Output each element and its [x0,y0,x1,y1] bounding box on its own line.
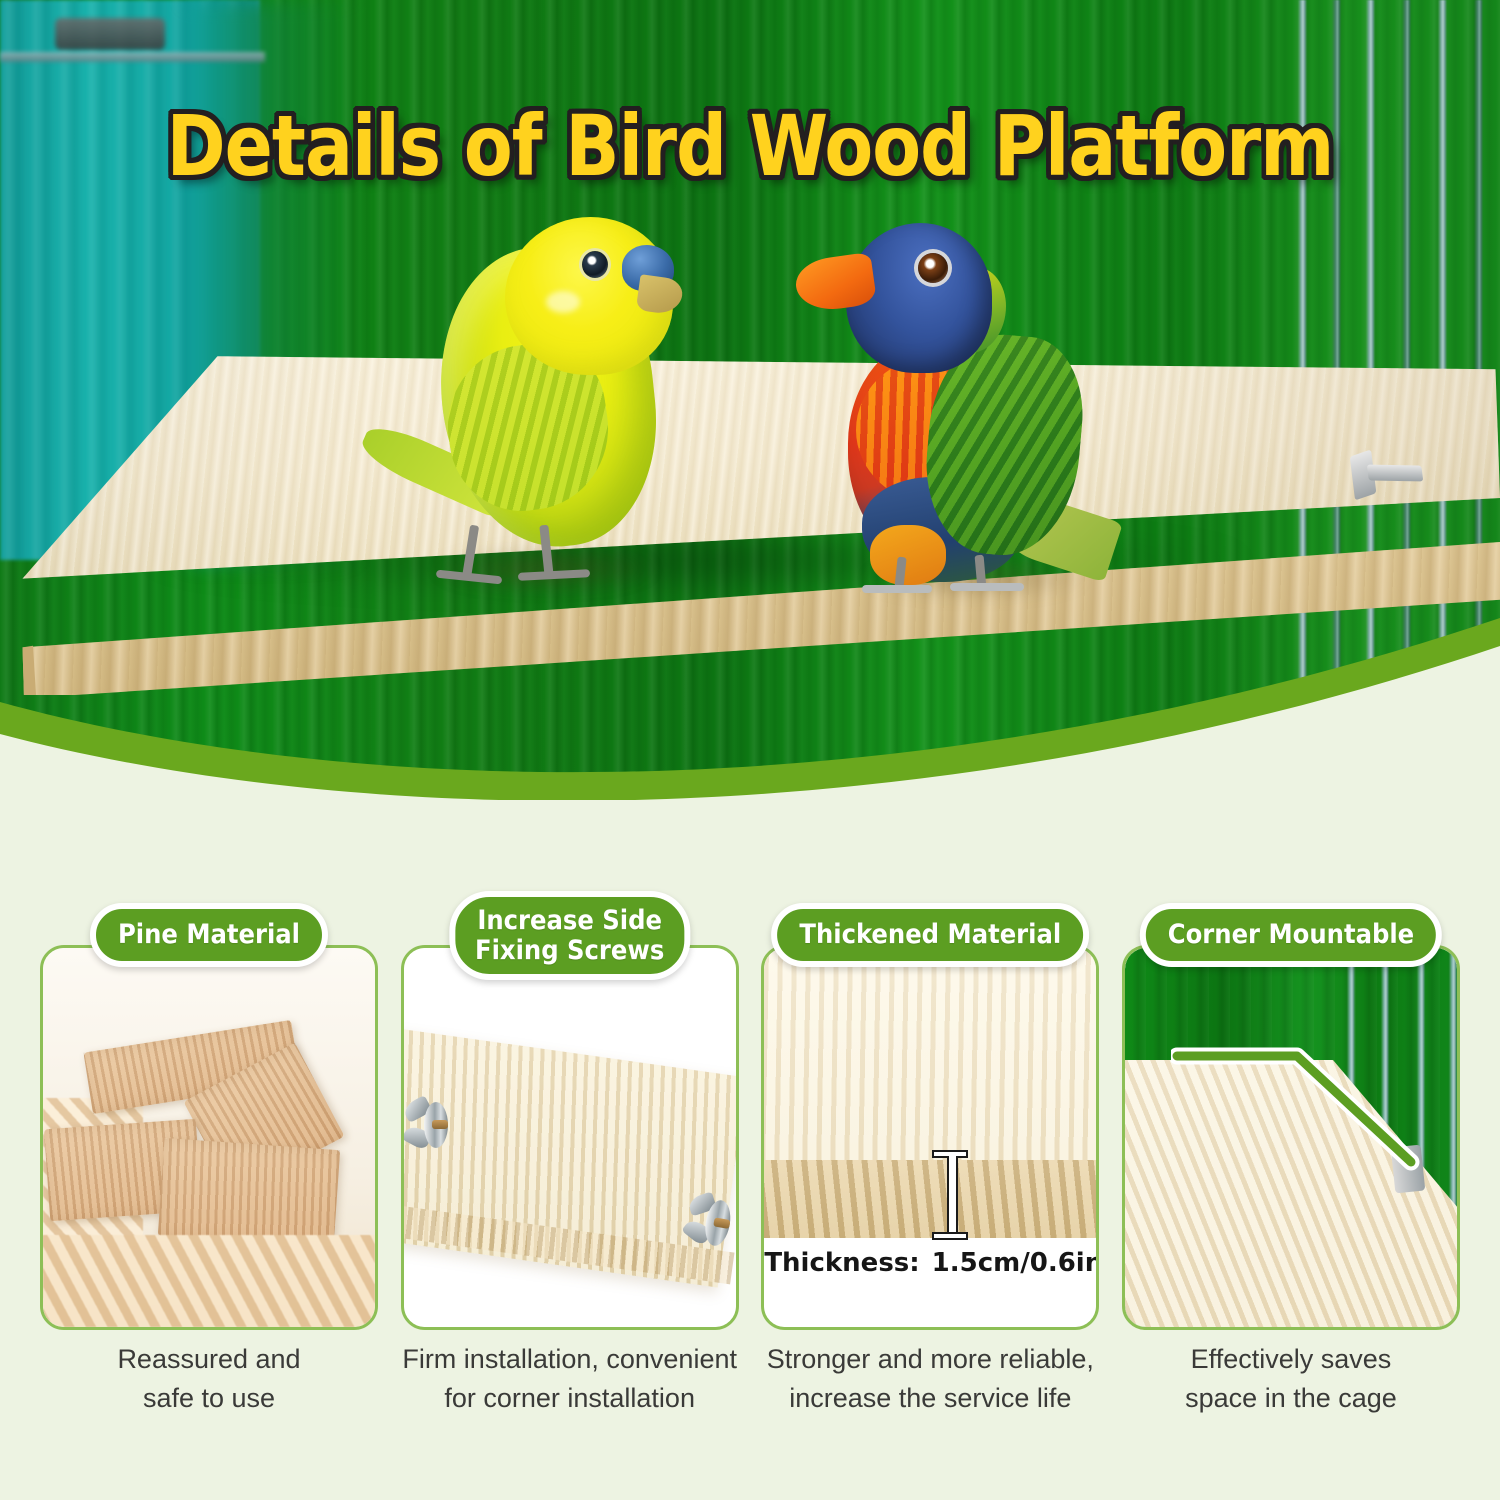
caption-line-2: safe to use [40,1379,378,1418]
corner-angle-highlight-icon [1171,1044,1423,1176]
lorikeet-foot [950,583,1024,591]
rainbow-lorikeet-bird [800,205,1100,595]
card-frame [401,945,739,1330]
card-badge-corner-mountable: Corner Mountable [1140,903,1442,967]
budgie-beak [636,274,685,316]
lorikeet-foot [862,585,932,593]
caption-line-1: Stronger and more reliable, [761,1340,1099,1379]
mounting-bracket-icon [1349,446,1424,500]
page-title: Details of Bird Wood Platform [45,104,1455,188]
feature-card-pine-material[interactable]: Pine Material [40,945,378,1330]
caption-line-1: Firm installation, convenient [401,1340,739,1379]
card-photo-thickness: Thickness:1.5cm/0.6in [764,948,1096,1327]
caption-fixing-screws: Firm installation, convenient for corner… [401,1340,739,1460]
badge-line-1: Increase Side [475,906,664,936]
pine-block [158,1138,340,1248]
budgie-eye [582,251,608,278]
cage-rail [0,52,265,62]
caption-line-1: Reassured and [40,1340,378,1379]
card-badge-fixing-screws: Increase Side Fixing Screws [449,891,690,980]
board-top-face [764,948,1096,1160]
budgerigar-bird [370,195,690,595]
hero-bottom-curve [0,610,1500,800]
lorikeet-eye [918,253,948,283]
caption-corner-mountable: Effectively saves space in the cage [1122,1340,1460,1460]
wing-nut-screw-icon [688,1192,736,1252]
caption-pine-material: Reassured and safe to use [40,1340,378,1460]
caption-row: Reassured and safe to use Firm installat… [0,1340,1500,1460]
hero-section: Details of Bird Wood Platform [0,0,1500,800]
badge-line-2: Fixing Screws [475,936,664,966]
feature-card-thickened-material[interactable]: Thickness:1.5cm/0.6in Thickened Material [761,945,1099,1330]
thickness-label-text: Thickness: [764,1248,919,1278]
card-frame [1122,945,1460,1330]
card-frame [40,945,378,1330]
card-photo-corner-mount [1125,948,1457,1327]
wing-nut-screw-icon [410,1098,462,1150]
caption-line-2: increase the service life [761,1379,1099,1418]
caption-line-2: for corner installation [401,1379,739,1418]
feature-card-fixing-screws[interactable]: Increase Side Fixing Screws [401,945,739,1330]
thickness-value: 1.5cm/0.6in [932,1248,1097,1278]
lorikeet-vent [870,525,946,585]
card-frame: Thickness:1.5cm/0.6in [761,945,1099,1330]
caption-thickened-material: Stronger and more reliable, increase the… [761,1340,1099,1460]
thickness-dimension-icon [932,1148,968,1242]
feature-card-grid: Pine Material Increase Side [0,905,1500,1365]
card-badge-pine-material: Pine Material [90,903,328,967]
budgie-cheek [546,291,580,313]
card-photo-fixing-screws [404,948,736,1327]
feature-card-corner-mountable[interactable]: Corner Mountable [1122,945,1460,1330]
card-photo-pine-blocks [43,948,375,1327]
infographic-page: Details of Bird Wood Platform [0,0,1500,1500]
caption-line-1: Effectively saves [1122,1340,1460,1379]
thickness-label: Thickness:1.5cm/0.6in [764,1248,1096,1278]
caption-line-2: space in the cage [1122,1379,1460,1418]
board-side-edge [764,1160,1096,1238]
cage-clip-icon [55,18,165,50]
card-badge-thickened-material: Thickened Material [771,903,1089,967]
